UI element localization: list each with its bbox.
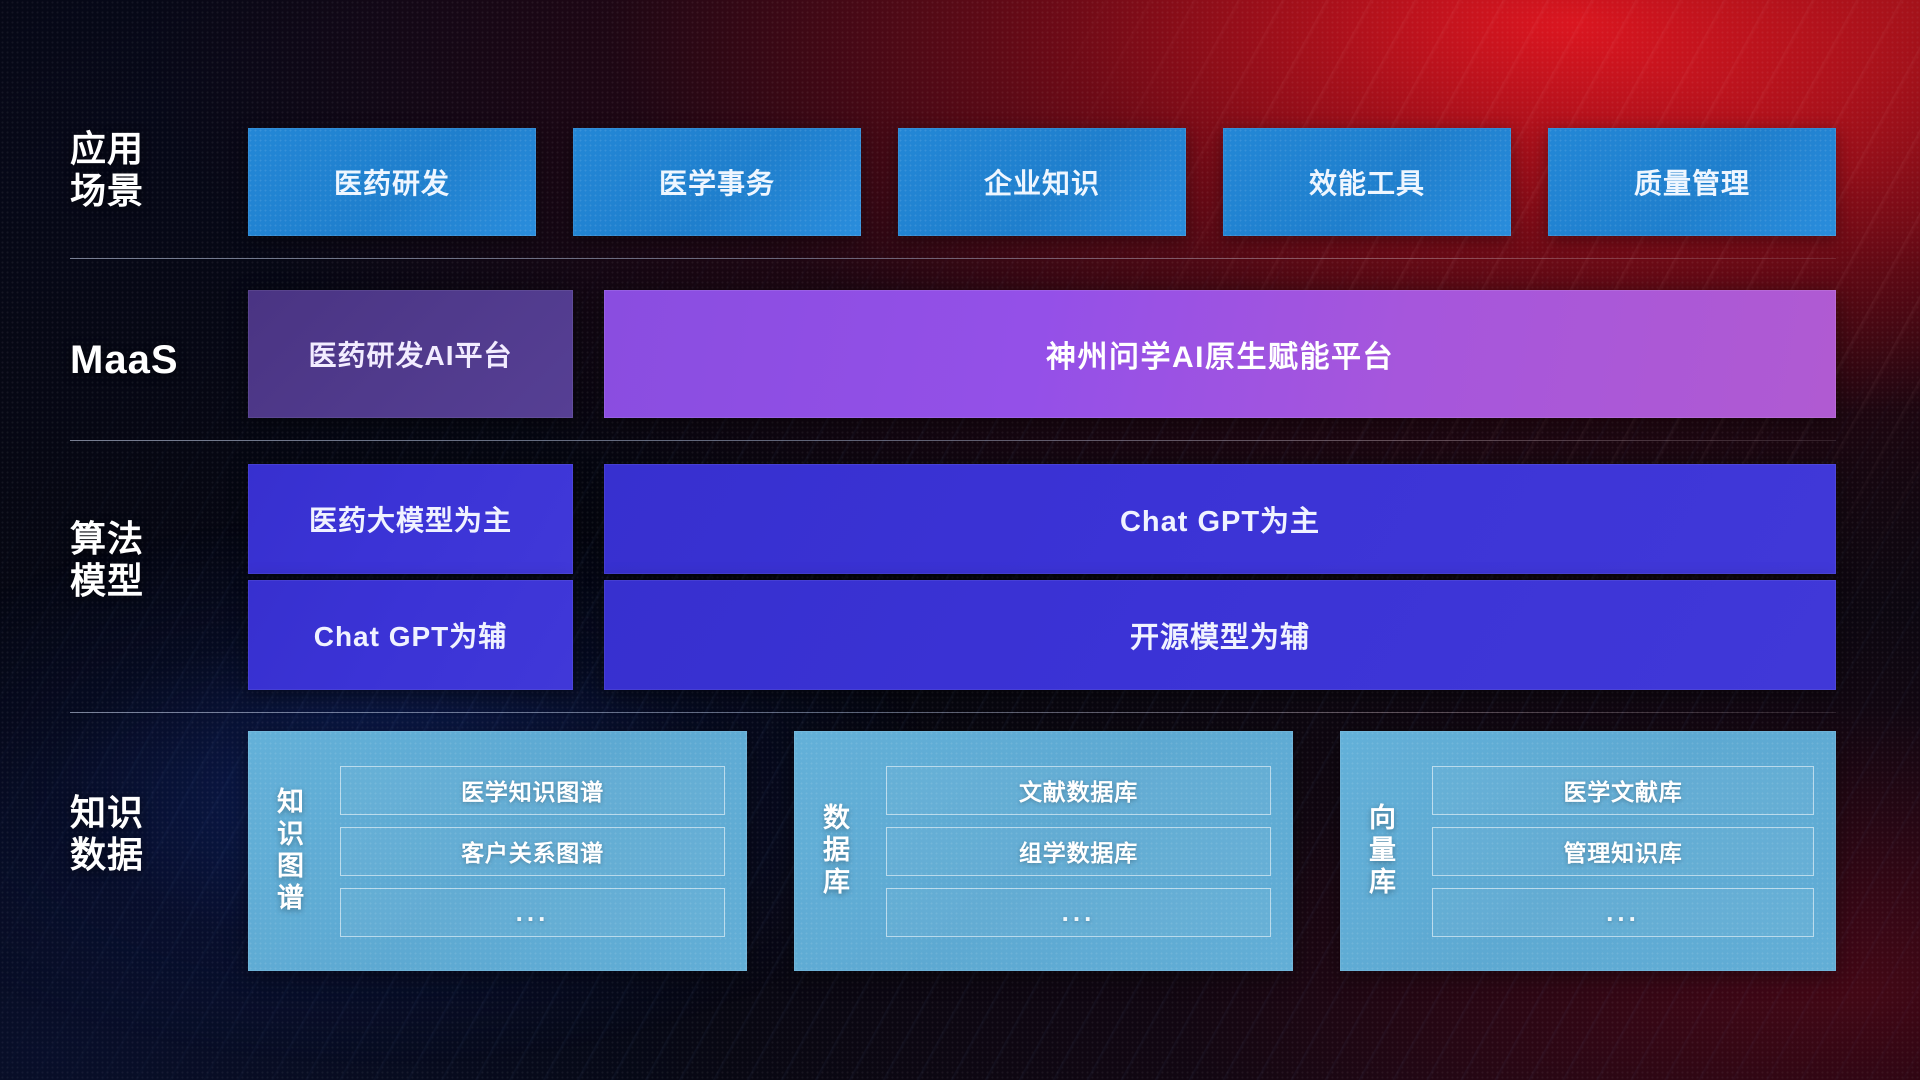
scenario-box-2-label: 医学事务 (659, 162, 775, 202)
scenario-box-1-label: 医药研发 (334, 162, 450, 202)
row-label-knowledge-line-2: 数据 (70, 834, 245, 876)
divider-maas-algorithm (70, 440, 1836, 441)
scenario-box-4-label: 效能工具 (1309, 162, 1425, 202)
algorithm-box-right-2-label: 开源模型为辅 (1130, 614, 1310, 656)
knowledge-group-3-title-line-1: 向 (1340, 803, 1426, 835)
knowledge-group-3[interactable]: 向 量 库 医学文献库 管理知识库 ... (1340, 731, 1836, 971)
row-label-knowledge-line-1: 知识 (70, 792, 245, 834)
row-label-algorithm-line-1: 算法 (70, 518, 245, 560)
divider-algorithm-knowledge (70, 712, 1836, 713)
knowledge-item-more[interactable]: ... (886, 888, 1271, 937)
knowledge-group-1-title-line-1: 知 (248, 787, 334, 819)
maas-box-right-label: 神州问学AI原生赋能平台 (1046, 332, 1394, 376)
knowledge-group-1-title-line-3: 图 (248, 851, 334, 883)
knowledge-item[interactable]: 医学知识图谱 (340, 766, 725, 815)
row-label-knowledge: 知识 数据 (70, 792, 245, 877)
row-label-algorithm: 算法 模型 (70, 518, 245, 603)
knowledge-item-more[interactable]: ... (1432, 888, 1814, 937)
scenario-box-3[interactable]: 企业知识 (898, 128, 1186, 236)
divider-scenario-maas (70, 258, 1836, 259)
knowledge-group-3-items: 医学文献库 管理知识库 ... (1426, 750, 1836, 953)
knowledge-group-2-title-line-3: 库 (794, 867, 880, 899)
knowledge-group-2[interactable]: 数 据 库 文献数据库 组学数据库 ... (794, 731, 1293, 971)
row-label-scenario-line-1: 应用 (70, 128, 245, 170)
knowledge-group-2-title-line-1: 数 (794, 803, 880, 835)
maas-box-right[interactable]: 神州问学AI原生赋能平台 (604, 290, 1836, 418)
diagram-canvas: 应用 场景 医药研发 医学事务 企业知识 效能工具 质量管理 MaaS (0, 0, 1920, 1080)
algorithm-box-right-2[interactable]: 开源模型为辅 (604, 580, 1836, 690)
scenario-box-5[interactable]: 质量管理 (1548, 128, 1836, 236)
algorithm-box-left-1-label: 医药大模型为主 (309, 499, 512, 539)
algorithm-box-right-1-label: Chat GPT为主 (1120, 498, 1320, 540)
knowledge-item[interactable]: 医学文献库 (1432, 766, 1814, 815)
knowledge-group-2-title-line-2: 据 (794, 835, 880, 867)
row-label-scenario: 应用 场景 (70, 128, 245, 213)
algorithm-box-left-2[interactable]: Chat GPT为辅 (248, 580, 573, 690)
algorithm-box-right-1[interactable]: Chat GPT为主 (604, 464, 1836, 574)
row-label-maas: MaaS (70, 337, 245, 384)
knowledge-group-3-title-line-3: 库 (1340, 867, 1426, 899)
knowledge-group-3-title-line-2: 量 (1340, 835, 1426, 867)
knowledge-item[interactable]: 管理知识库 (1432, 827, 1814, 876)
knowledge-item[interactable]: 组学数据库 (886, 827, 1271, 876)
algorithm-box-left-1[interactable]: 医药大模型为主 (248, 464, 573, 574)
row-label-maas-line-1: MaaS (70, 337, 245, 384)
row-label-scenario-line-2: 场景 (70, 170, 245, 212)
knowledge-item-more[interactable]: ... (340, 888, 725, 937)
knowledge-group-3-title: 向 量 库 (1340, 803, 1426, 899)
maas-box-left[interactable]: 医药研发AI平台 (248, 290, 573, 418)
knowledge-group-1-title-line-4: 谱 (248, 883, 334, 915)
knowledge-group-1[interactable]: 知 识 图 谱 医学知识图谱 客户关系图谱 ... (248, 731, 747, 971)
maas-box-left-label: 医药研发AI平台 (308, 334, 512, 374)
scenario-box-2[interactable]: 医学事务 (573, 128, 861, 236)
scenario-box-5-label: 质量管理 (1634, 162, 1750, 202)
knowledge-item[interactable]: 文献数据库 (886, 766, 1271, 815)
knowledge-group-1-title: 知 识 图 谱 (248, 787, 334, 914)
algorithm-box-left-2-label: Chat GPT为辅 (314, 615, 508, 655)
scenario-box-4[interactable]: 效能工具 (1223, 128, 1511, 236)
knowledge-group-2-items: 文献数据库 组学数据库 ... (880, 750, 1293, 953)
knowledge-item[interactable]: 客户关系图谱 (340, 827, 725, 876)
knowledge-group-1-title-line-2: 识 (248, 819, 334, 851)
row-label-algorithm-line-2: 模型 (70, 560, 245, 602)
knowledge-group-2-title: 数 据 库 (794, 803, 880, 899)
scenario-box-1[interactable]: 医药研发 (248, 128, 536, 236)
scenario-box-3-label: 企业知识 (984, 162, 1100, 202)
knowledge-group-1-items: 医学知识图谱 客户关系图谱 ... (334, 750, 747, 953)
